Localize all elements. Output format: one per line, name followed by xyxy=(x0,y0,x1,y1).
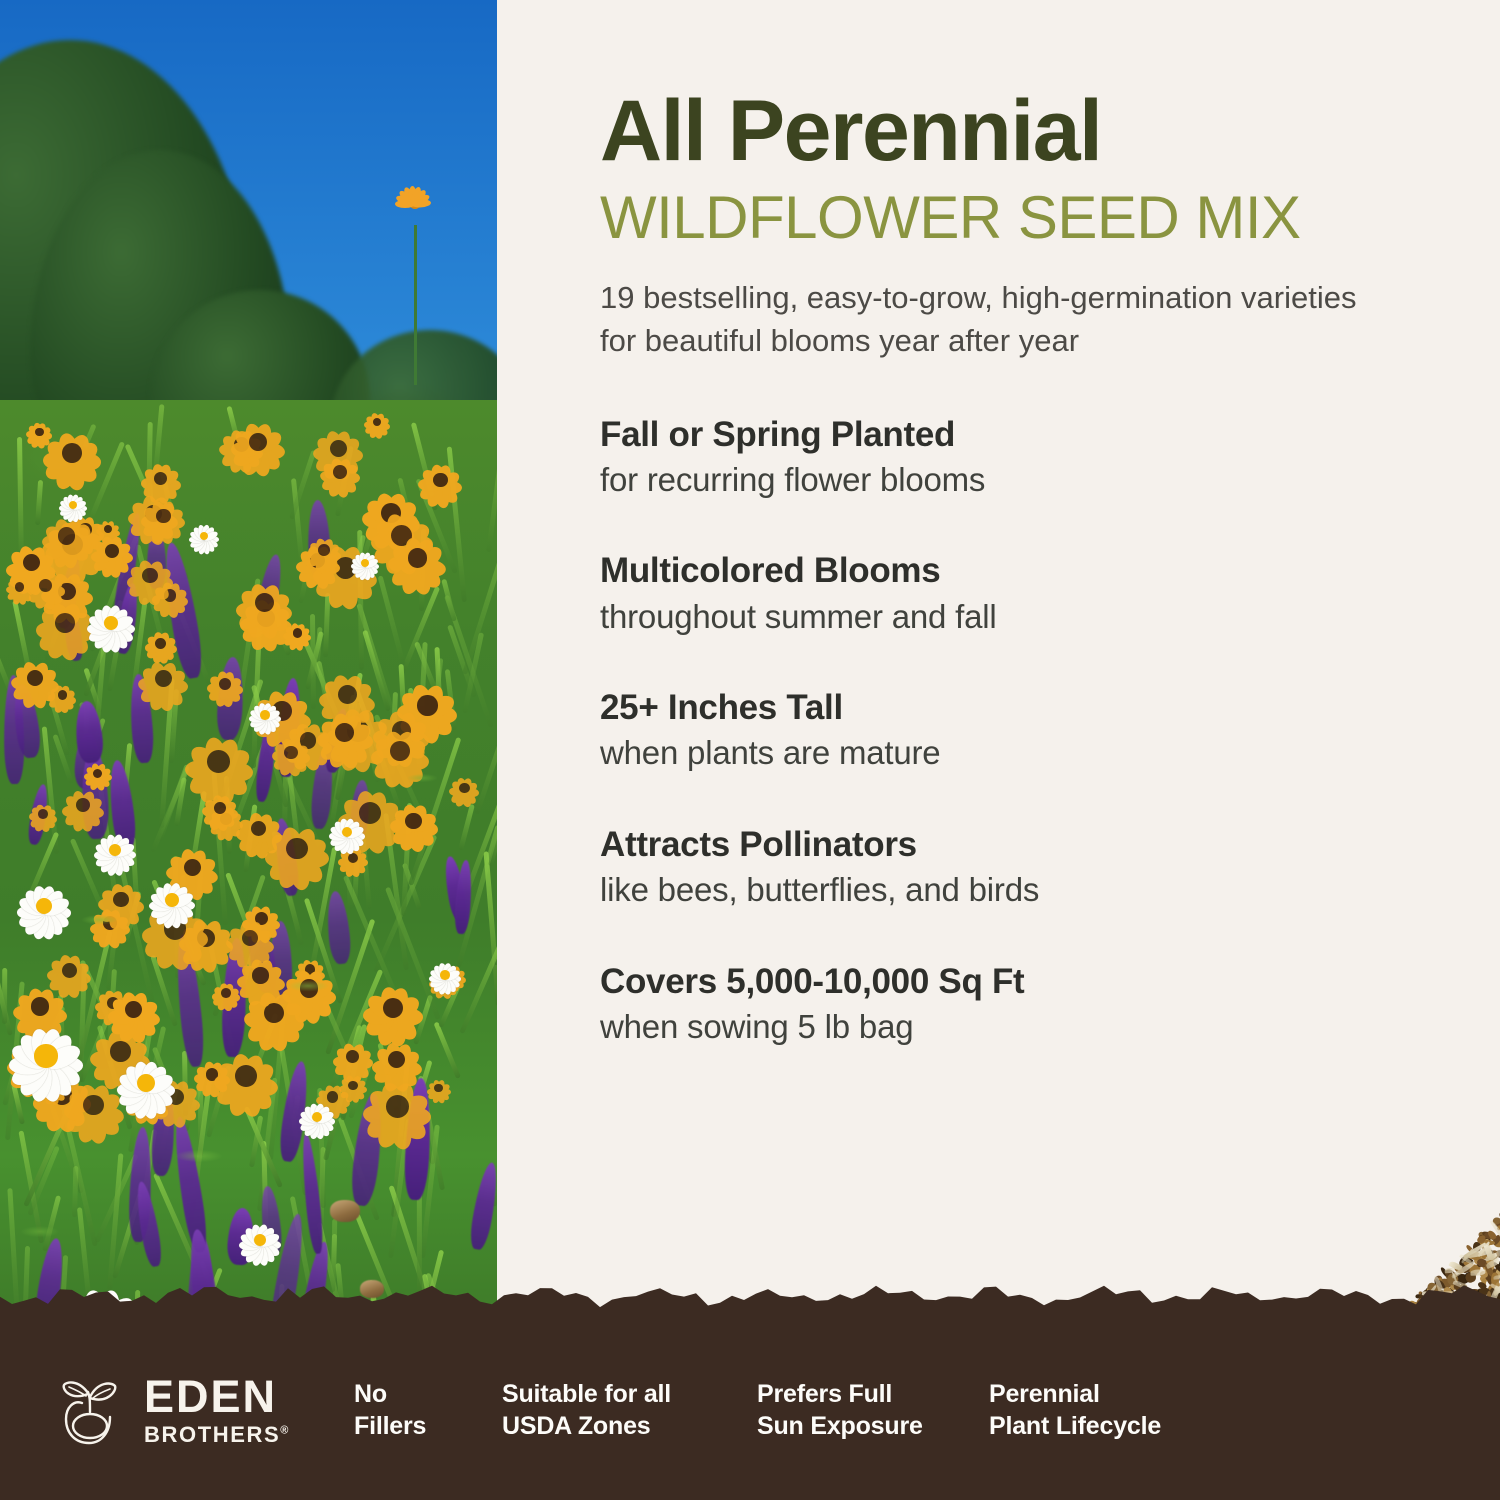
badge-line-1: No xyxy=(354,1378,502,1410)
black-eyed-susan-flower xyxy=(272,733,311,772)
footer-bar: EDEN BROTHERS® NoFillersSuitable for all… xyxy=(0,1320,1500,1500)
feature-title: Fall or Spring Planted xyxy=(600,415,1500,455)
black-eyed-susan-flower xyxy=(284,619,311,646)
salvia-flower xyxy=(453,859,473,934)
salvia-flower xyxy=(278,1060,313,1163)
black-eyed-susan-flower xyxy=(41,566,93,618)
eden-brothers-logo[interactable]: EDEN BROTHERS® xyxy=(54,1371,354,1449)
salvia-flower xyxy=(151,1087,178,1176)
badge-line-1: Suitable for all xyxy=(502,1378,757,1410)
salvia-flower xyxy=(441,855,469,922)
black-eyed-susan-flower xyxy=(144,627,177,660)
black-eyed-susan-flower xyxy=(389,530,446,587)
black-eyed-susan-flower xyxy=(127,553,173,599)
black-eyed-susan-flower xyxy=(320,452,360,492)
black-eyed-susan-flower xyxy=(237,952,285,1000)
shasta-daisy-flower xyxy=(190,522,218,550)
black-eyed-susan-flower xyxy=(43,423,101,481)
shasta-daisy-flower xyxy=(250,700,280,730)
black-eyed-susan-flower xyxy=(214,1044,278,1108)
badge-line-1: Prefers Full xyxy=(757,1378,989,1410)
shasta-daisy-flower xyxy=(430,960,460,990)
shasta-daisy-flower xyxy=(240,1220,280,1260)
black-eyed-susan-flower xyxy=(39,1073,67,1101)
shasta-daisy-flower xyxy=(150,878,194,922)
black-eyed-susan-flower xyxy=(226,914,274,962)
salvia-flower xyxy=(114,582,141,655)
salvia-flower xyxy=(242,907,280,994)
black-eyed-susan-flower xyxy=(295,538,339,582)
black-eyed-susan-flower xyxy=(426,1076,451,1101)
salvia-flower xyxy=(3,675,24,784)
black-eyed-susan-flower xyxy=(326,699,390,763)
salvia-flower xyxy=(307,499,332,579)
black-eyed-susan-flower xyxy=(36,594,94,652)
black-eyed-susan-flower xyxy=(265,817,328,880)
black-eyed-susan-flower xyxy=(240,592,292,644)
salvia-flower xyxy=(325,890,353,965)
flower-stem xyxy=(414,225,417,385)
black-eyed-susan-flower xyxy=(212,979,241,1008)
black-eyed-susan-flower xyxy=(219,422,264,467)
salvia-flower xyxy=(349,1092,386,1207)
black-eyed-susan-flower xyxy=(143,896,208,961)
shasta-daisy-flower xyxy=(18,880,70,932)
shasta-daisy-flower xyxy=(60,492,86,518)
salvia-flower xyxy=(348,779,370,840)
product-infographic: All Perennial WILDFLOWER SEED MIX 19 bes… xyxy=(0,0,1500,1500)
salvia-flower xyxy=(221,938,248,1058)
black-eyed-susan-flower xyxy=(7,1032,64,1089)
black-eyed-susan-flower xyxy=(372,1034,422,1084)
product-details: All Perennial WILDFLOWER SEED MIX 19 bes… xyxy=(600,0,1500,1099)
black-eyed-susan-flower xyxy=(245,983,304,1042)
black-eyed-susan-flower xyxy=(364,409,390,435)
black-eyed-susan-flower xyxy=(449,773,480,804)
brand-name: EDEN xyxy=(144,1374,290,1419)
feature-badges: NoFillersSuitable for allUSDA ZonesPrefe… xyxy=(354,1378,1249,1442)
salvia-flower xyxy=(299,1133,325,1255)
black-eyed-susan-flower xyxy=(338,781,403,846)
black-eyed-susan-flower xyxy=(313,423,363,473)
feature-title: Covers 5,000-10,000 Sq Ft xyxy=(600,962,1500,1002)
black-eyed-susan-flower xyxy=(62,784,103,825)
black-eyed-susan-flower xyxy=(231,416,284,469)
salvia-flower xyxy=(467,1161,497,1251)
salvia-flower xyxy=(128,1127,154,1243)
wildflower-meadow xyxy=(0,400,497,1345)
salvia-flower xyxy=(110,512,145,629)
salvia-flower xyxy=(10,683,43,760)
black-eyed-susan-flower xyxy=(27,419,52,444)
salvia-flower xyxy=(106,759,138,851)
feature-item: 25+ Inches Tallwhen plants are mature xyxy=(600,688,1500,773)
black-eyed-susan-flower xyxy=(124,1071,171,1118)
salvia-flower xyxy=(310,746,336,829)
salvia-flower xyxy=(33,1237,68,1330)
black-eyed-susan-flower xyxy=(282,961,337,1016)
feature-subtitle: throughout summer and fall xyxy=(600,597,1500,637)
salvia-flower xyxy=(26,783,51,846)
black-eyed-susan-flower xyxy=(339,1071,367,1099)
black-eyed-susan-flower xyxy=(253,682,311,740)
black-eyed-susan-flower xyxy=(11,654,58,701)
black-eyed-susan-flower xyxy=(440,962,466,988)
black-eyed-susan-flower xyxy=(33,1066,92,1125)
black-eyed-susan-flower xyxy=(236,806,281,851)
black-eyed-susan-flower xyxy=(6,573,34,601)
black-eyed-susan-flower xyxy=(152,578,188,614)
black-eyed-susan-flower xyxy=(389,797,438,846)
feature-badge: Prefers FullSun Exposure xyxy=(757,1378,989,1442)
salvia-flower xyxy=(159,541,206,681)
feature-item: Attracts Pollinatorslike bees, butterfli… xyxy=(600,825,1500,910)
salvia-flower xyxy=(172,934,206,1068)
black-eyed-susan-flower xyxy=(333,1037,373,1077)
feature-badge: Suitable for allUSDA Zones xyxy=(502,1378,757,1442)
salvia-flower xyxy=(62,605,85,662)
black-eyed-susan-flower xyxy=(47,948,92,993)
black-eyed-susan-flower xyxy=(84,760,111,787)
feature-item: Covers 5,000-10,000 Sq Ftwhen sowing 5 l… xyxy=(600,962,1500,1047)
black-eyed-susan-flower xyxy=(98,877,144,923)
badge-line-2: Sun Exposure xyxy=(757,1410,989,1442)
feature-item: Multicolored Bloomsthroughout summer and… xyxy=(600,551,1500,636)
black-eyed-susan-flower xyxy=(317,705,372,760)
black-eyed-susan-flower xyxy=(90,903,131,944)
black-eyed-susan-flower xyxy=(313,536,377,600)
shasta-daisy-flower xyxy=(10,1020,82,1092)
salvia-flower xyxy=(272,817,302,897)
black-eyed-susan-flower xyxy=(338,843,368,873)
salvia-flower xyxy=(80,747,110,839)
salvia-flower xyxy=(403,1077,433,1200)
black-eyed-susan-flower xyxy=(307,533,342,568)
black-eyed-susan-flower xyxy=(90,1022,150,1082)
black-eyed-susan-flower xyxy=(419,458,462,501)
black-eyed-susan-flower xyxy=(236,575,292,631)
shasta-daisy-flower xyxy=(330,815,364,849)
shasta-daisy-flower xyxy=(95,830,135,870)
brand-subname: BROTHERS® xyxy=(144,1424,290,1446)
salvia-flower xyxy=(226,1208,255,1266)
black-eyed-susan-flower xyxy=(48,681,77,710)
feature-subtitle: when plants are mature xyxy=(600,733,1500,773)
shasta-daisy-flower xyxy=(118,1055,174,1111)
feature-title: Multicolored Blooms xyxy=(600,551,1500,591)
black-eyed-susan-flower xyxy=(316,1080,349,1113)
black-eyed-susan-flower xyxy=(138,654,188,704)
lone-coreopsis-flower xyxy=(393,190,439,220)
shasta-daisy-flower xyxy=(352,550,378,576)
meadow-photo xyxy=(0,0,497,1345)
badge-line-1: Perennial xyxy=(989,1378,1249,1410)
black-eyed-susan-flower xyxy=(371,722,429,780)
black-eyed-susan-flower xyxy=(141,459,180,498)
salvia-flower xyxy=(216,656,246,740)
salvia-flower xyxy=(269,921,292,1004)
dried-seedhead xyxy=(330,1200,360,1222)
badge-line-2: USDA Zones xyxy=(502,1410,757,1442)
black-eyed-susan-flower xyxy=(167,842,219,894)
black-eyed-susan-flower xyxy=(185,727,252,794)
salvia-flower xyxy=(170,1116,211,1255)
black-eyed-susan-flower xyxy=(362,484,420,542)
salvia-flower xyxy=(55,555,85,630)
salvia-flower xyxy=(74,700,105,764)
black-eyed-susan-flower xyxy=(398,676,457,735)
black-eyed-susan-flower xyxy=(320,666,376,722)
black-eyed-susan-flower xyxy=(203,790,238,825)
salvia-flower xyxy=(275,677,303,777)
black-eyed-susan-flower xyxy=(207,666,243,702)
black-eyed-susan-flower xyxy=(63,1075,124,1136)
feature-item: Fall or Spring Plantedfor recurring flow… xyxy=(600,415,1500,500)
black-eyed-susan-flower xyxy=(96,517,120,541)
black-eyed-susan-flower xyxy=(430,965,460,995)
black-eyed-susan-flower xyxy=(108,984,159,1035)
shasta-daisy-flower xyxy=(88,600,134,646)
black-eyed-susan-flower xyxy=(29,799,58,828)
feature-title: Attracts Pollinators xyxy=(600,825,1500,865)
black-eyed-susan-flower xyxy=(92,530,133,571)
badge-line-2: Fillers xyxy=(354,1410,502,1442)
black-eyed-susan-flower xyxy=(179,912,233,966)
product-title: All Perennial xyxy=(600,88,1500,174)
feature-title: 25+ Inches Tall xyxy=(600,688,1500,728)
black-eyed-susan-flower xyxy=(42,514,104,576)
black-eyed-susan-flower xyxy=(152,1073,199,1120)
black-eyed-susan-flower xyxy=(209,801,244,836)
black-eyed-susan-flower xyxy=(371,504,433,566)
dried-seedhead xyxy=(360,1280,384,1298)
black-eyed-susan-flower xyxy=(26,566,65,605)
shasta-daisy-flower xyxy=(300,1100,334,1134)
product-description: 19 bestselling, easy-to-grow, high-germi… xyxy=(600,277,1390,363)
salvia-flower xyxy=(147,529,166,589)
black-eyed-susan-flower xyxy=(373,703,429,759)
black-eyed-susan-flower xyxy=(128,489,178,539)
salvia-flower xyxy=(253,553,286,631)
badge-line-2: Plant Lifecycle xyxy=(989,1410,1249,1442)
black-eyed-susan-flower xyxy=(242,900,280,938)
feature-subtitle: like bees, butterflies, and birds xyxy=(600,870,1500,910)
black-eyed-susan-flower xyxy=(295,954,325,984)
black-eyed-susan-flower xyxy=(141,494,185,538)
black-eyed-susan-flower xyxy=(96,986,131,1021)
feature-badge: NoFillers xyxy=(354,1378,502,1442)
black-eyed-susan-flower xyxy=(42,511,92,561)
salvia-flower xyxy=(254,713,279,802)
salvia-flower xyxy=(128,673,155,763)
black-eyed-susan-flower xyxy=(284,716,333,765)
salvia-flower xyxy=(323,707,351,774)
black-eyed-susan-flower xyxy=(364,979,423,1038)
salvia-flower xyxy=(258,1185,283,1255)
black-eyed-susan-flower xyxy=(13,980,67,1034)
product-subtitle: WILDFLOWER SEED MIX xyxy=(600,186,1500,249)
black-eyed-susan-flower xyxy=(6,538,56,588)
black-eyed-susan-flower xyxy=(194,1056,231,1093)
feature-subtitle: when sowing 5 lb bag xyxy=(600,1007,1500,1047)
feature-subtitle: for recurring flower blooms xyxy=(600,460,1500,500)
salvia-flower xyxy=(74,733,101,790)
sprout-icon xyxy=(54,1371,128,1449)
feature-badge: PerennialPlant Lifecycle xyxy=(989,1378,1249,1442)
black-eyed-susan-flower xyxy=(364,1073,431,1140)
black-eyed-susan-flower xyxy=(67,511,104,548)
feature-list: Fall or Spring Plantedfor recurring flow… xyxy=(600,415,1500,1047)
salvia-flower xyxy=(132,1180,164,1268)
